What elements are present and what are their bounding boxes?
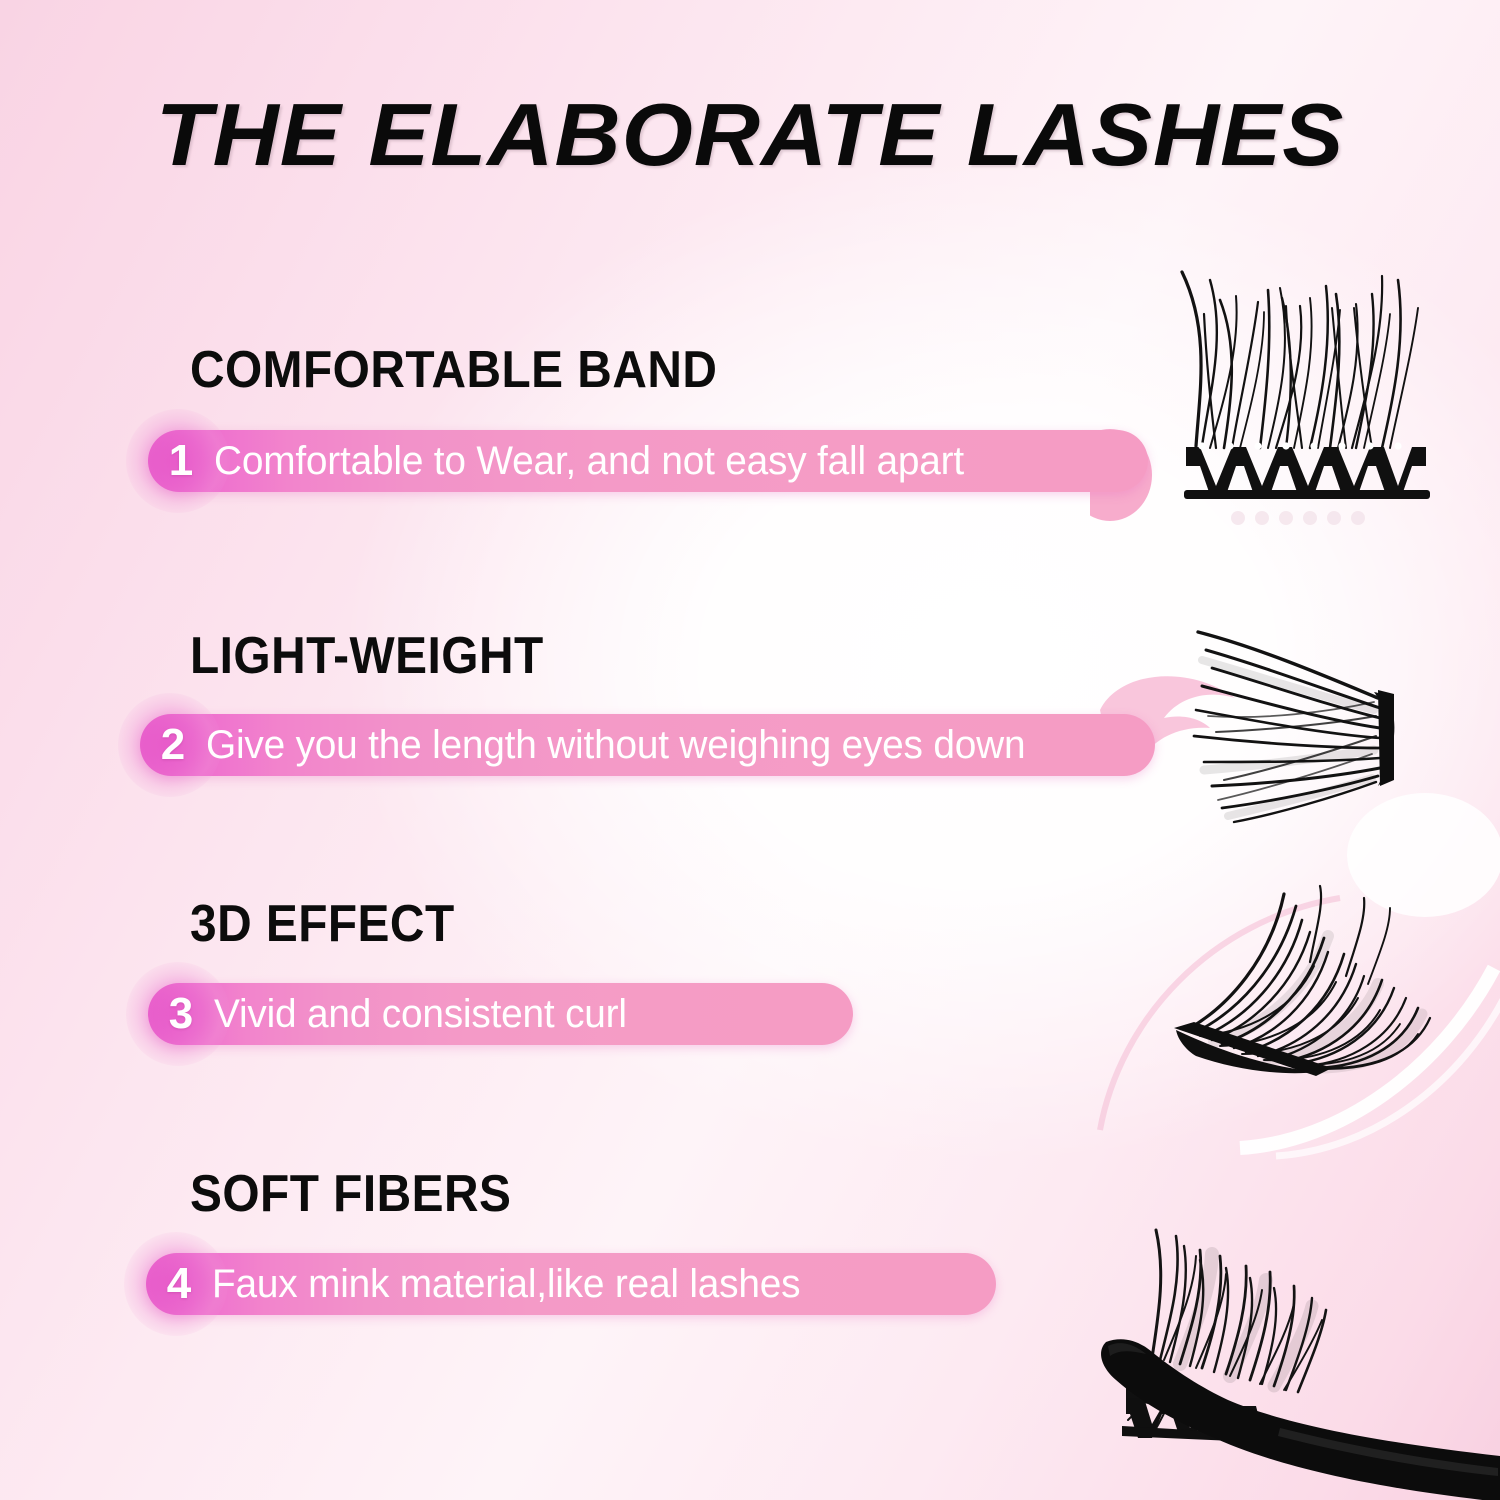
lash-image-2 [1150,620,1500,840]
feature-heading-1: COMFORTABLE BAND [190,344,717,396]
feature-pill-3[interactable]: 3 Vivid and consistent curl [148,983,853,1045]
feature-heading-4: SOFT FIBERS [190,1168,511,1220]
feature-description-1: Comfortable to Wear, and not easy fall a… [214,430,964,492]
feature-number-3: 3 [148,983,214,1045]
decorative-arc-lower [1090,880,1500,1160]
feature-heading-2: LIGHT-WEIGHT [190,630,544,682]
decorative-glow-blob [1330,760,1500,940]
feature-heading-3: 3D EFFECT [190,898,455,950]
feature-pill-1[interactable]: 1 Comfortable to Wear, and not easy fall… [148,430,1148,492]
feature-number-1: 1 [148,430,214,492]
lash-product-infographic: THE ELABORATE LASHES COMFORTABLE BAND 1 … [0,0,1500,1500]
page-title: THE ELABORATE LASHES [0,84,1500,186]
feature-pill-4[interactable]: 4 Faux mink material,like real lashes [146,1253,996,1315]
feature-description-3: Vivid and consistent curl [214,983,627,1045]
feature-description-4: Faux mink material,like real lashes [212,1253,800,1315]
lash-image-1 [1140,250,1500,540]
lash-image-4 [1060,1210,1500,1500]
feature-number-2: 2 [140,714,206,776]
feature-description-2: Give you the length without weighing eye… [206,714,1025,776]
feature-number-4: 4 [146,1253,212,1315]
feature-pill-2[interactable]: 2 Give you the length without weighing e… [140,714,1155,776]
lash-image-3 [1150,880,1500,1110]
